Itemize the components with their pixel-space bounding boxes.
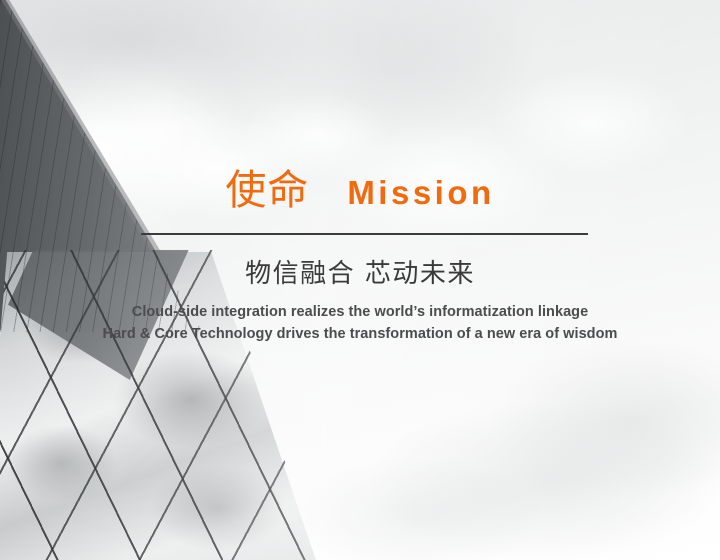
tagline-english-line-1: Cloud-side integration realizes the worl… <box>0 301 720 323</box>
tagline-english: Cloud-side integration realizes the worl… <box>0 301 720 345</box>
page-title: 使命 Mission <box>0 170 720 211</box>
mission-banner: 使命 Mission 物信融合 芯动未来 Cloud-side integrat… <box>0 0 720 560</box>
page-title-chinese: 使命 <box>225 170 309 211</box>
tagline-english-line-2: Hard & Core Technology drives the transf… <box>0 323 720 345</box>
banner-content: 使命 Mission 物信融合 芯动未来 Cloud-side integrat… <box>0 0 720 560</box>
tagline-chinese: 物信融合 芯动未来 <box>0 258 720 291</box>
page-title-english: Mission <box>347 176 494 209</box>
title-divider-rule <box>141 233 588 235</box>
